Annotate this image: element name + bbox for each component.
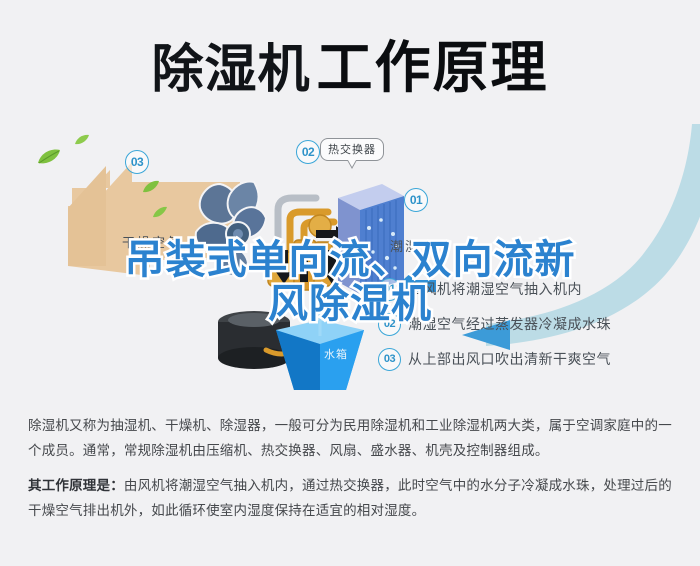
infographic-page: 除湿机工作原理 (0, 0, 700, 566)
list-item: 03 从上部出风口吹出清新干爽空气 (378, 348, 698, 370)
water-tank (276, 304, 364, 390)
badge-02-heat-exchanger: 02 (296, 140, 320, 164)
badge-03-dry-air: 03 (125, 150, 149, 174)
step-list: 01 由风机将潮湿空气抽入机内 02 潮湿空气经过蒸发器冷凝成水珠 03 从上部… (378, 278, 698, 383)
leaf-icon (36, 148, 62, 166)
step-text-01: 由风机将潮湿空气抽入机内 (408, 279, 582, 299)
paragraph-principle-rest: 由风机将潮湿空气抽入机内，通过热交换器，此时空气中的水分子冷凝成水珠，处理过后的… (28, 478, 672, 519)
step-text-03: 从上部出风口吹出清新干爽空气 (408, 349, 611, 369)
step-badge-01: 01 (378, 278, 401, 301)
page-title: 除湿机工作原理 (0, 28, 700, 108)
diagram-stage: 03 02 01 热交换器 干燥空气 潮湿空气 水箱 01 由风机将潮湿空气抽入… (0, 128, 700, 400)
label-humid-air: 潮湿空气 (390, 236, 450, 255)
fan-blades (196, 182, 266, 277)
paragraph-principle: 其工作原理是：由风机将潮湿空气抽入机内，通过热交换器，此时空气中的水分子冷凝成水… (28, 474, 676, 524)
label-water-tank: 水箱 (324, 346, 348, 362)
paragraph-definition: 除湿机又称为抽湿机、干燥机、除湿器，一般可分为民用除湿机和工业除湿机两大类，属于… (28, 414, 676, 464)
paragraph-principle-lead: 其工作原理是： (28, 478, 124, 494)
list-item: 01 由风机将潮湿空气抽入机内 (378, 278, 698, 300)
step-text-02: 潮湿空气经过蒸发器冷凝成水珠 (408, 314, 611, 334)
leaf-icon (142, 180, 160, 194)
leaf-icon (152, 206, 168, 219)
step-badge-02: 02 (378, 313, 401, 336)
callout-heat-exchanger: 热交换器 (320, 138, 384, 161)
list-item: 02 潮湿空气经过蒸发器冷凝成水珠 (378, 313, 698, 335)
title-line: 除湿机工作原理 (151, 40, 548, 96)
badge-01-humid-air: 01 (404, 188, 428, 212)
title-part-principle: 工作原理 (317, 35, 549, 101)
body-copy: 除湿机又称为抽湿机、干燥机、除湿器，一般可分为民用除湿机和工业除湿机两大类，属于… (28, 414, 676, 534)
label-dry-air: 干燥空气 (122, 232, 182, 251)
leaf-icon (74, 134, 90, 146)
title-part-dehumidifier: 除湿机 (151, 40, 310, 100)
step-badge-03: 03 (378, 348, 401, 371)
